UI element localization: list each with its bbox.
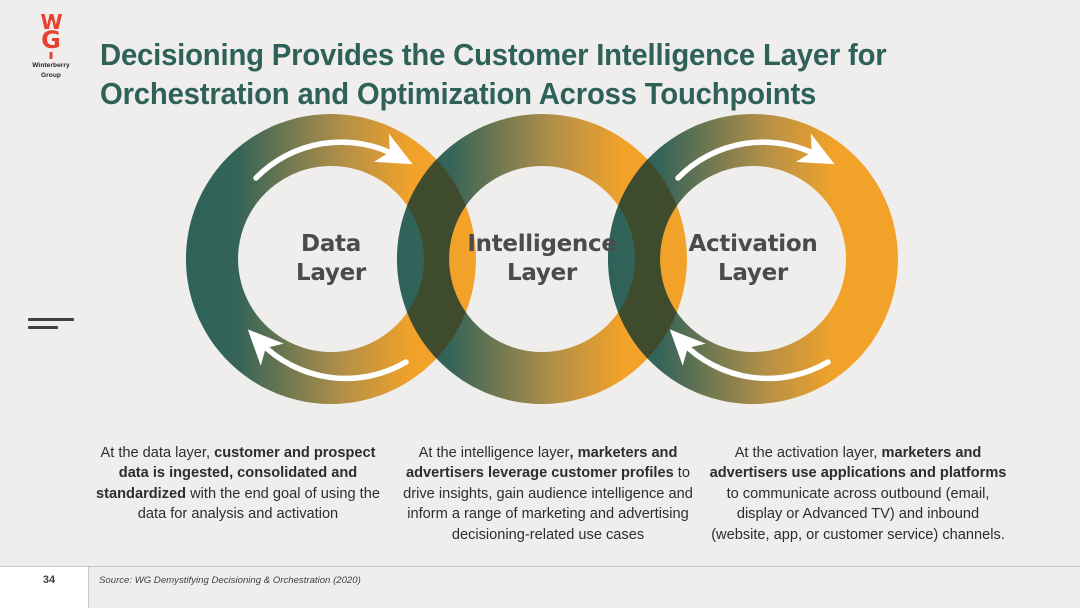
caption-intelligence-layer: At the intelligence layer, marketers and… <box>398 443 698 546</box>
footer-divider-line <box>0 566 1080 567</box>
ring-label-activation-layer: Activation Layer <box>643 230 863 288</box>
ring-label-data-layer: Data Layer <box>221 230 441 288</box>
ring-label-intelligence-line1: Intelligence <box>432 230 652 259</box>
source-citation: Source: WG Demystifying Decisioning & Or… <box>99 575 361 586</box>
ring-label-intelligence-line2: Layer <box>432 259 652 288</box>
ring-label-data-line2: Layer <box>221 259 441 288</box>
caption-row: At the data layer, customer and prospect… <box>88 428 1008 560</box>
winterberry-group-logo: W G Winterberry Group <box>20 14 82 86</box>
left-decoration-marks <box>28 318 74 334</box>
caption-activation-layer: At the activation layer, marketers and a… <box>708 443 1008 546</box>
caption-data-layer: At the data layer, customer and prospect… <box>88 443 388 546</box>
infinity-loop-diagram: Data Layer Intelligence Layer Activation… <box>180 106 904 412</box>
ring-label-activation-line2: Layer <box>643 259 863 288</box>
ring-label-intelligence-layer: Intelligence Layer <box>432 230 652 288</box>
logo-name-line2: Group <box>20 72 82 80</box>
ring-label-activation-line1: Activation <box>643 230 863 259</box>
decoration-bar-short <box>28 326 58 329</box>
logo-bar-bottom-icon <box>50 52 53 59</box>
page-title: Decisioning Provides the Customer Intell… <box>100 36 993 114</box>
page-number: 34 <box>34 574 64 586</box>
decoration-bar-long <box>28 318 74 321</box>
logo-mark-icon: W G <box>20 14 82 60</box>
logo-letter-g: G <box>20 28 82 52</box>
ring-label-data-line1: Data <box>221 230 441 259</box>
slide-canvas: W G Winterberry Group Decisioning Provid… <box>0 0 1080 608</box>
footer-vertical-divider <box>88 567 89 608</box>
logo-name-line1: Winterberry <box>20 62 82 70</box>
